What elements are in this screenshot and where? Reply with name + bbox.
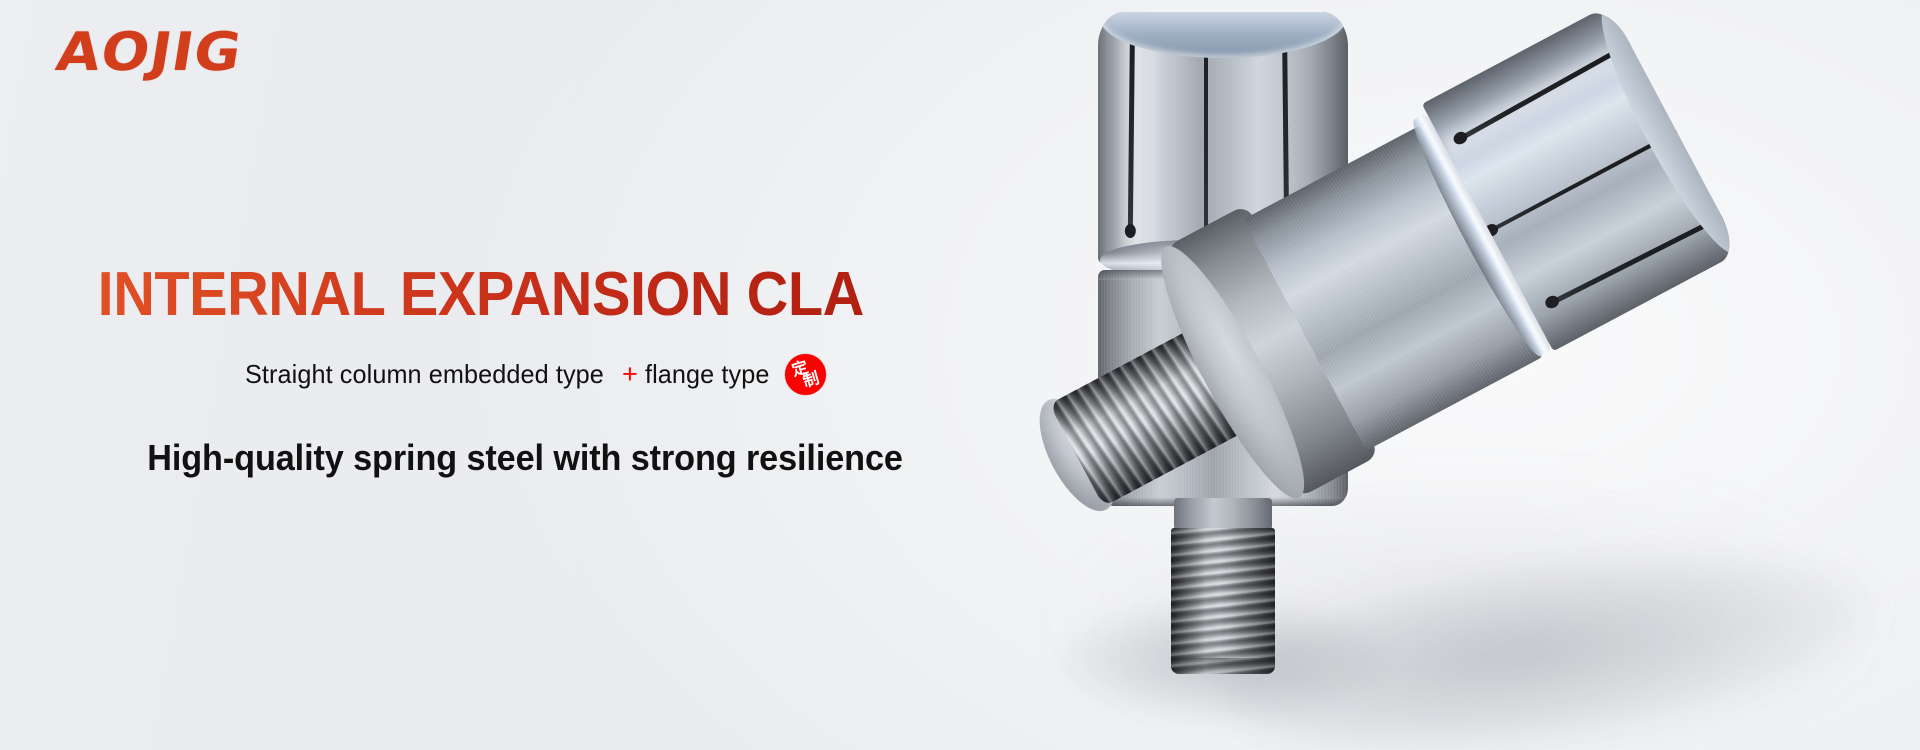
tagline: High-quality spring steel with strong re… <box>0 437 884 479</box>
product-image-stage <box>1020 0 1920 750</box>
page-title: INTERNAL EXPANSION CLAMP <box>0 262 865 328</box>
subtitle-part-one: Straight column embedded type <box>245 359 604 390</box>
subtitle-row: Straight column embedded type + flange t… <box>0 354 930 395</box>
brand-logo-text: AOJIG <box>53 26 246 79</box>
copy-block: INTERNAL EXPANSION CLAMP Straight column… <box>0 262 930 479</box>
product-banner: AOJIG INTERNAL EXPANSION CLAMP Straight … <box>0 0 1920 750</box>
customization-badge: 定 制 <box>785 354 826 395</box>
collet-end-cap <box>1583 5 1741 266</box>
brand-logo[interactable]: AOJIG <box>57 24 231 80</box>
badge-char-two: 制 <box>801 370 821 390</box>
subtitle-plus-symbol: + <box>615 359 645 390</box>
subtitle-part-two: flange type <box>645 359 769 390</box>
